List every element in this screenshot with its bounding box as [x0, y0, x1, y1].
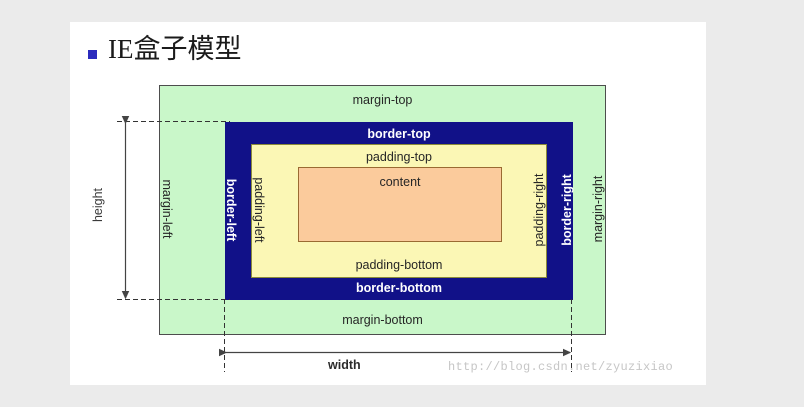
margin-top-label: margin-top: [160, 93, 605, 107]
padding-left-label: padding-left: [252, 170, 266, 250]
border-box: border-top border-bottom border-left bor…: [225, 122, 573, 300]
slide-canvas: IE盒子模型 margin-top margin-bottom margin-l…: [70, 22, 706, 385]
margin-box: margin-top margin-bottom margin-left mar…: [159, 85, 606, 335]
content-label: content: [299, 175, 501, 189]
padding-bottom-label: padding-bottom: [252, 258, 546, 272]
padding-box: padding-top padding-bottom padding-left …: [251, 144, 547, 278]
padding-right-label: padding-right: [532, 170, 546, 250]
width-label: width: [328, 358, 361, 372]
border-left-label: border-left: [224, 170, 238, 250]
content-box: content: [298, 167, 502, 242]
margin-bottom-label: margin-bottom: [160, 313, 605, 327]
border-top-label: border-top: [225, 127, 573, 141]
border-right-label: border-right: [560, 170, 574, 250]
box-model-diagram: margin-top margin-bottom margin-left mar…: [70, 22, 706, 385]
margin-left-label: margin-left: [160, 169, 174, 249]
height-label: height: [91, 175, 105, 235]
slide-page: IE盒子模型 margin-top margin-bottom margin-l…: [0, 0, 804, 407]
watermark-text: http://blog.csdn.net/zyuzixiao: [448, 360, 673, 374]
padding-top-label: padding-top: [252, 150, 546, 164]
border-bottom-label: border-bottom: [225, 281, 573, 295]
margin-right-label: margin-right: [591, 169, 605, 249]
